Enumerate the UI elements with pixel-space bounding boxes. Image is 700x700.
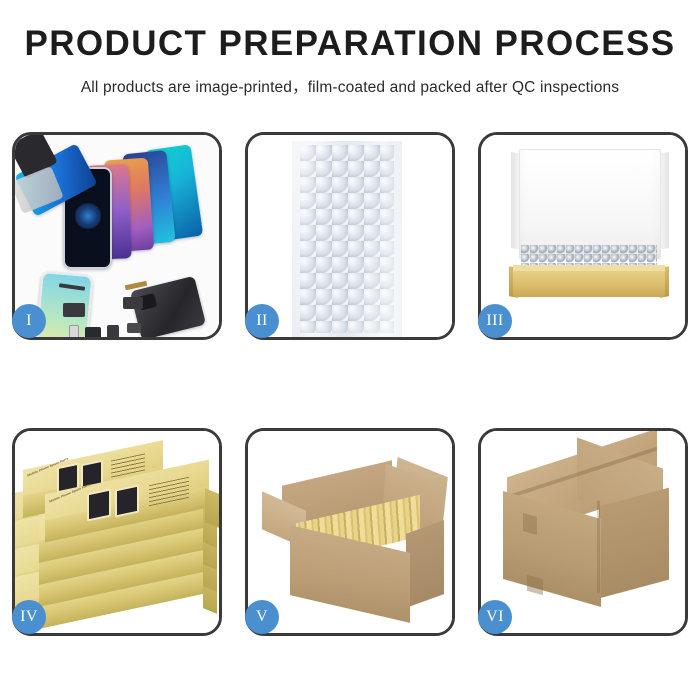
process-step-panel-4[interactable]: Mobile Phone Spare Parts Mobile Phone Sp… bbox=[12, 428, 222, 636]
mailer-tray-front bbox=[513, 271, 665, 297]
step-badge-1: I bbox=[12, 304, 46, 338]
step-badge-4: IV bbox=[12, 600, 46, 634]
panel-1-illustration bbox=[15, 135, 219, 337]
carton-side-face bbox=[406, 520, 444, 608]
process-step-panel-5[interactable]: V bbox=[245, 428, 455, 636]
spare-part-connector bbox=[69, 325, 79, 337]
sealed-carton-side-face bbox=[599, 488, 669, 599]
stacked-box-labelled-front: Mobile Phone Spare Parts bbox=[45, 477, 209, 533]
step-badge-6: VI bbox=[478, 600, 512, 634]
page-header: PRODUCT PREPARATION PROCESS All products… bbox=[0, 0, 700, 97]
process-step-panel-3[interactable]: III bbox=[478, 132, 688, 340]
box-window-front-2 bbox=[115, 484, 139, 517]
page-title: PRODUCT PREPARATION PROCESS bbox=[0, 26, 700, 61]
spare-part-flex-cable-4 bbox=[123, 297, 143, 309]
page-subtitle: All products are image-printed，film-coat… bbox=[0, 75, 700, 97]
spare-part-speaker bbox=[107, 325, 119, 337]
box-stack: Mobile Phone Spare Parts Mobile Phone Sp… bbox=[15, 445, 219, 631]
spare-part-camera-module bbox=[85, 327, 101, 337]
process-step-grid: I II III bbox=[12, 132, 688, 644]
process-step-panel-2[interactable]: II bbox=[245, 132, 455, 340]
panel-5-illustration bbox=[248, 431, 452, 633]
panel-4-illustration: Mobile Phone Spare Parts Mobile Phone Sp… bbox=[15, 431, 219, 633]
process-step-panel-6[interactable]: VI bbox=[478, 428, 688, 636]
process-step-panel-1[interactable]: I bbox=[12, 132, 222, 340]
step-badge-2: II bbox=[245, 304, 279, 338]
step-badge-3: III bbox=[478, 304, 512, 338]
sealed-carton-corner-edge bbox=[597, 501, 600, 594]
panel-6-illustration bbox=[481, 431, 685, 633]
box-window-front-1 bbox=[87, 488, 111, 521]
box-face-side bbox=[205, 488, 219, 528]
panel-3-illustration bbox=[481, 135, 685, 337]
sealed-carton-tape-upper bbox=[523, 513, 537, 535]
step-badge-5: V bbox=[245, 600, 279, 634]
mailer-lid bbox=[519, 149, 661, 259]
spare-part-button bbox=[127, 323, 141, 333]
panel-2-illustration bbox=[248, 135, 452, 337]
spare-part-flex-cable-2 bbox=[63, 303, 85, 317]
bubble-wrap-sheen bbox=[292, 141, 402, 337]
